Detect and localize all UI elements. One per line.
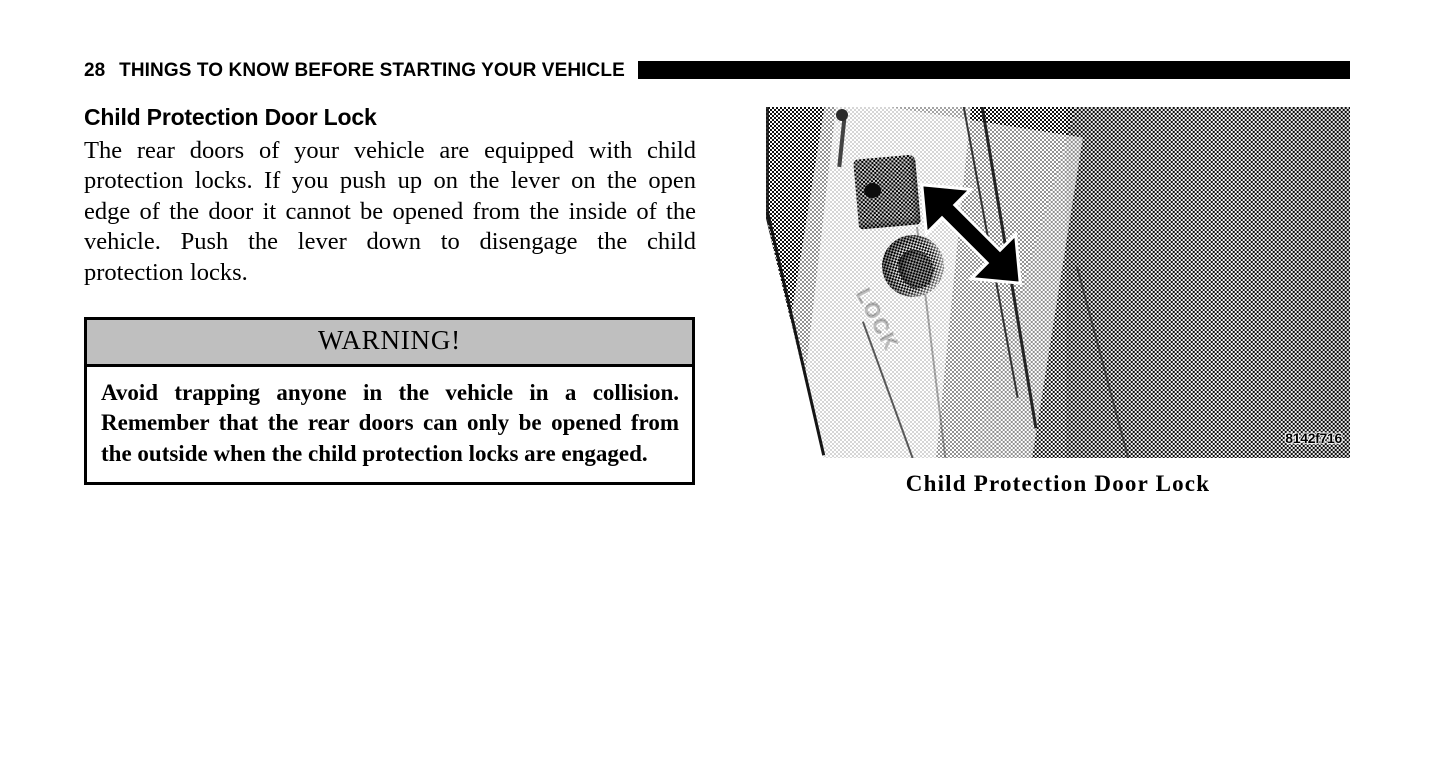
left-text-column: Child Protection Door Lock The rear door…: [84, 103, 696, 288]
figure-child-protection-door-lock: LOCK 8142f716 Child Protection Door Lock: [766, 107, 1350, 498]
figure-photo: LOCK 8142f716: [766, 107, 1350, 458]
lever-pivot-knob: [836, 109, 848, 121]
warning-box: WARNING! Avoid trapping anyone in the ve…: [84, 317, 695, 485]
header-rule: [638, 61, 1350, 79]
section-heading: Child Protection Door Lock: [84, 103, 696, 132]
page-title: THINGS TO KNOW BEFORE STARTING YOUR VEHI…: [119, 61, 625, 80]
figure-caption: Child Protection Door Lock: [766, 470, 1350, 498]
warning-body: Avoid trapping anyone in the vehicle in …: [87, 367, 692, 483]
photo-left-border-line: [766, 107, 769, 225]
panel-shading: [1066, 107, 1350, 458]
warning-text: Avoid trapping anyone in the vehicle in …: [101, 378, 679, 470]
page-number: 28: [84, 61, 105, 80]
warning-title: WARNING!: [87, 320, 692, 367]
double-headed-arrow-icon: [914, 179, 1044, 289]
figure-image-id: 8142f716: [1285, 430, 1342, 446]
section-body-text: The rear doors of your vehicle are equip…: [84, 136, 696, 289]
page-header: 28 THINGS TO KNOW BEFORE STARTING YOUR V…: [84, 56, 1350, 84]
